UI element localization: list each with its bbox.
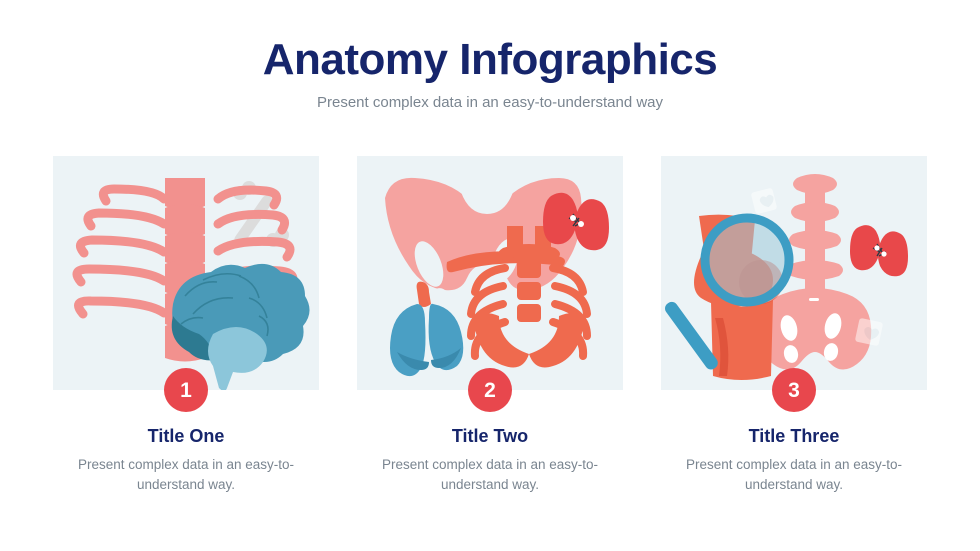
infographic-slide: Anatomy Infographics Present complex dat… (0, 0, 980, 551)
page-subtitle: Present complex data in an easy-to-under… (0, 94, 980, 111)
ribcage-brain-bone-illustration (53, 156, 319, 390)
card-two[interactable]: 2 Title Two Present complex data in an e… (357, 156, 623, 494)
card-description-one: Present complex data in an easy-to-under… (53, 455, 319, 494)
card-description-three: Present complex data in an easy-to-under… (661, 455, 927, 494)
kidneys-graphic-three (850, 225, 908, 276)
card-one[interactable]: 1 Title One Present complex data in an e… (53, 156, 319, 494)
pelvis-ribcage-lungs-kidneys-illustration (357, 156, 623, 390)
step-badge-two: 2 (468, 368, 512, 412)
card-title-one: Title One (53, 426, 319, 447)
header: Anatomy Infographics Present complex dat… (0, 0, 980, 111)
lungs-graphic (390, 282, 463, 377)
cards-row: 1 Title One Present complex data in an e… (0, 156, 980, 494)
illustration-panel-two (357, 156, 623, 390)
illustration-panel-one (53, 156, 319, 390)
step-badge-three: 3 (772, 368, 816, 412)
step-badge-one: 1 (164, 368, 208, 412)
card-description-two: Present complex data in an easy-to-under… (357, 455, 623, 494)
illustration-panel-three (661, 156, 927, 390)
spine-knee-magnifier-kidneys-illustration (661, 156, 927, 390)
page-title: Anatomy Infographics (0, 36, 980, 84)
card-three[interactable]: 3 Title Three Present complex data in an… (661, 156, 927, 494)
card-title-three: Title Three (661, 426, 927, 447)
card-title-two: Title Two (357, 426, 623, 447)
